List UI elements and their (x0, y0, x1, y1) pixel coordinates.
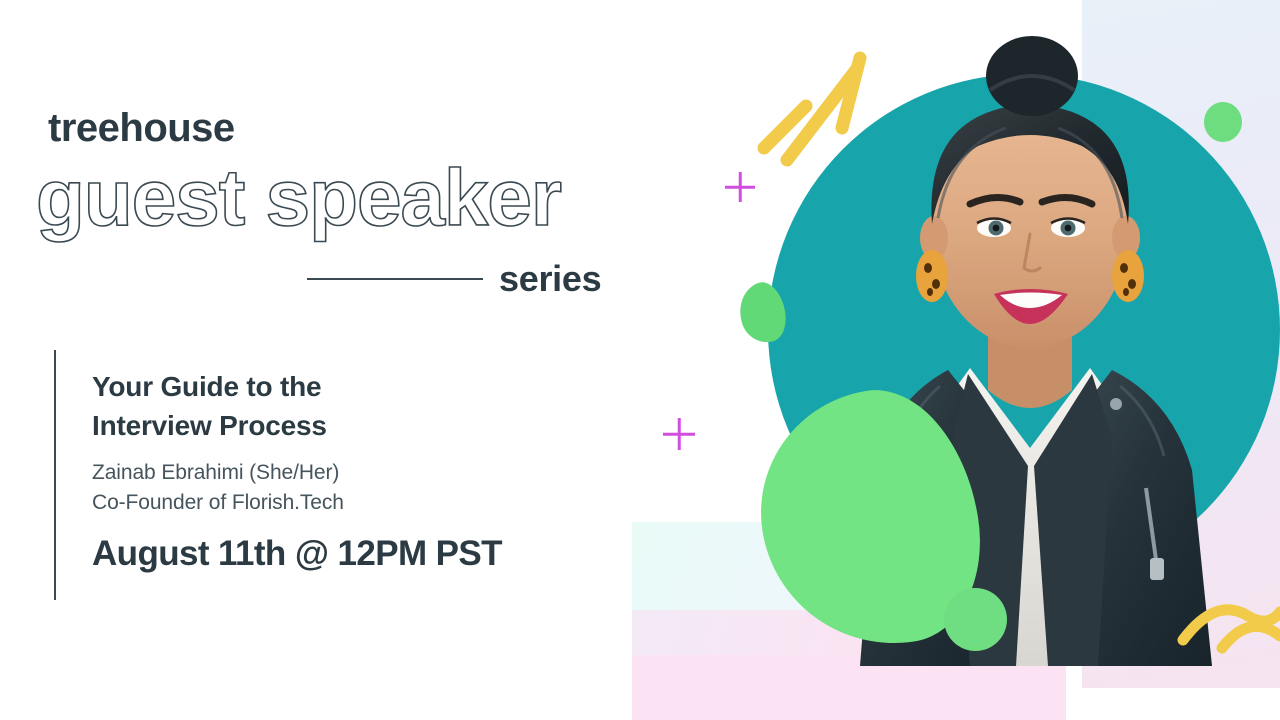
organic-blob-icon (944, 588, 1007, 651)
session-title-line-2: Interview Process (92, 407, 632, 446)
slide-canvas: treehouse guest speaker series Your Guid… (0, 0, 1280, 720)
series-divider-rule (307, 278, 483, 280)
brand-wordmark: treehouse (48, 108, 235, 148)
plus-mark-icon (663, 418, 695, 450)
text-column: treehouse guest speaker series Your Guid… (0, 0, 660, 720)
plus-mark-icon (725, 172, 755, 202)
vertical-accent-bar (54, 350, 56, 600)
session-info-block: Your Guide to the Interview Process Zain… (92, 368, 632, 573)
event-datetime: August 11th @ 12PM PST (92, 535, 632, 574)
session-title-line-1: Your Guide to the (92, 368, 632, 407)
speaker-role: Co-Founder of Florish.Tech (92, 488, 632, 518)
headline-outline: guest speaker (36, 158, 561, 238)
series-row: series (307, 258, 627, 300)
session-title: Your Guide to the Interview Process (92, 368, 632, 445)
series-label: series (499, 258, 601, 300)
speaker-name: Zainab Ebrahimi (She/Her) (92, 458, 632, 488)
